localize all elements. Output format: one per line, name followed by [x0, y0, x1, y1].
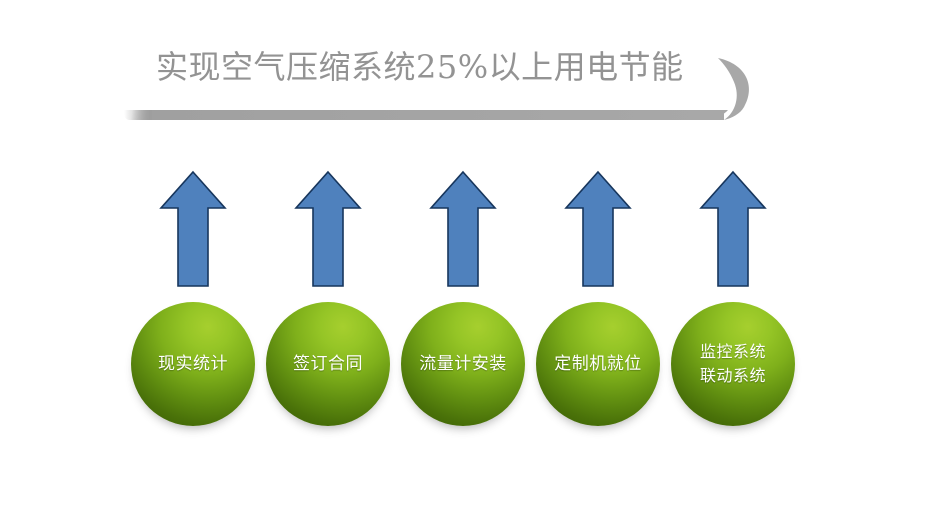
- title-underline-bar: [124, 110, 724, 120]
- up-arrow-1: [159, 170, 227, 288]
- up-arrow-2: [294, 170, 362, 288]
- slide-canvas: 实现空气压缩系统25%以上用电节能 现实统计 签订合同 流量计安装 定制机: [0, 0, 945, 529]
- up-arrow-3: [429, 170, 497, 288]
- page-title: 实现空气压缩系统25%以上用电节能: [156, 36, 736, 98]
- step-sphere-2[interactable]: 签订合同: [266, 302, 390, 426]
- step-label-5: 监控系统 联动系统: [700, 340, 766, 388]
- step-label-4: 定制机就位: [554, 352, 642, 377]
- title-banner: 实现空气压缩系统25%以上用电节能: [118, 34, 778, 130]
- step-sphere-1[interactable]: 现实统计: [131, 302, 255, 426]
- step-label-1: 现实统计: [158, 352, 228, 377]
- step-label-2: 签订合同: [293, 352, 363, 377]
- step-sphere-4[interactable]: 定制机就位: [536, 302, 660, 426]
- step-sphere-3[interactable]: 流量计安装: [401, 302, 525, 426]
- step-sphere-5[interactable]: 监控系统 联动系统: [671, 302, 795, 426]
- up-arrow-5: [699, 170, 767, 288]
- up-arrow-4: [564, 170, 632, 288]
- step-label-3: 流量计安装: [419, 352, 507, 377]
